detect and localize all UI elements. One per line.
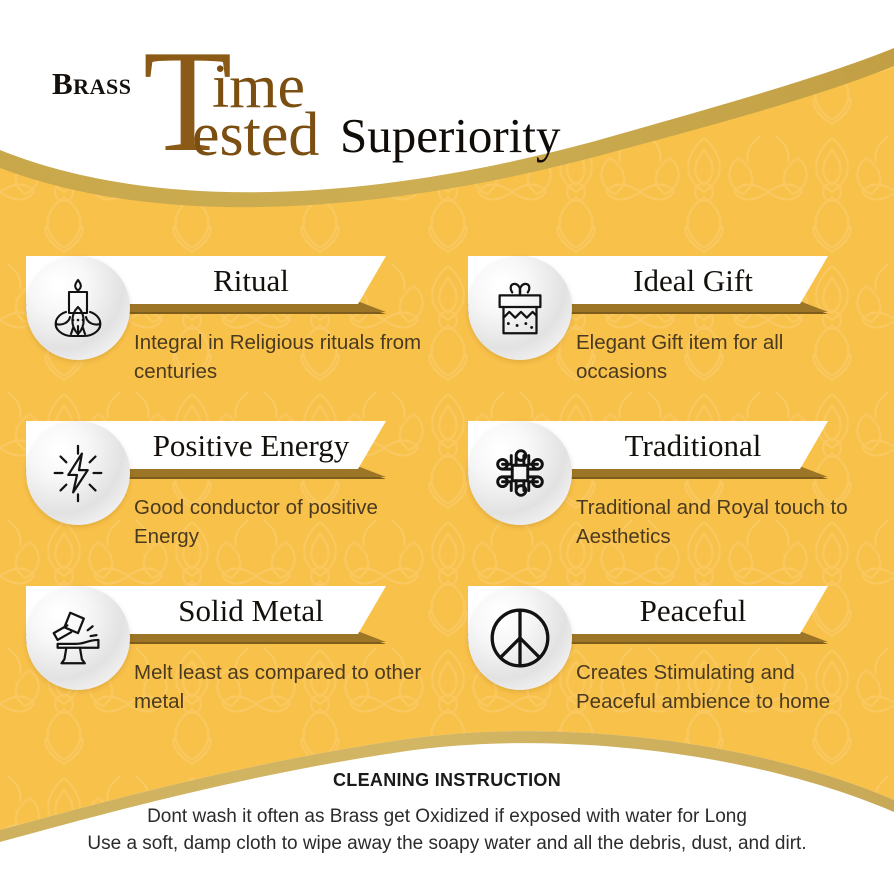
card-description: Elegant Gift item for all occasions — [576, 328, 876, 386]
card-title: Ritual — [136, 264, 366, 298]
page-title: Brass T ime ested Superiority — [52, 32, 752, 152]
feature-card-positive-energy: Positive Energy Good co — [26, 421, 444, 586]
cleaning-instruction-line-2: Use a soft, damp cloth to wipe away the … — [0, 830, 894, 857]
card-title: Ideal Gift — [578, 264, 808, 298]
card-icon-circle — [468, 256, 572, 360]
card-description: Melt least as compared to other metal — [134, 658, 434, 716]
card-description: Traditional and Royal touch to Aesthetic… — [576, 493, 876, 551]
feature-card-solid-metal: Solid Metal Melt least as compared to ot… — [26, 586, 444, 751]
lightning-bolt-icon — [45, 440, 111, 506]
feature-card-peaceful: Peaceful Creates Stimulating and Peacefu… — [468, 586, 886, 751]
card-title: Solid Metal — [136, 594, 366, 628]
card-description: Good conductor of positive Energy — [134, 493, 434, 551]
gift-box-icon — [487, 275, 553, 341]
card-icon-circle — [26, 586, 130, 690]
feature-card-traditional: Traditional — [468, 421, 886, 586]
card-icon-circle — [468, 421, 572, 525]
card-icon-circle — [26, 256, 130, 360]
title-superiority: Superiority — [340, 111, 560, 160]
cleaning-instruction-heading: CLEANING INSTRUCTION — [0, 770, 894, 791]
peace-sign-icon — [485, 603, 555, 673]
title-brass: Brass — [52, 68, 131, 99]
cleaning-instruction-section: CLEANING INSTRUCTION Dont wash it often … — [0, 770, 894, 857]
hammer-anvil-icon — [45, 605, 111, 671]
feature-card-ideal-gift: Ideal Gift — [468, 256, 886, 421]
feature-card-ritual: Ritual — [26, 256, 444, 421]
card-title: Positive Energy — [136, 429, 366, 463]
infographic-canvas: Brass T ime ested Superiority Ritual — [0, 0, 894, 894]
card-title: Traditional — [578, 429, 808, 463]
title-ested: ested — [192, 104, 319, 166]
card-title: Peaceful — [578, 594, 808, 628]
card-icon-circle — [26, 421, 130, 525]
endless-knot-icon — [487, 440, 553, 506]
card-description: Creates Stimulating and Peaceful ambienc… — [576, 658, 876, 716]
header: Brass T ime ested Superiority — [0, 0, 894, 150]
card-icon-circle — [468, 586, 572, 690]
candle-lotus-icon — [44, 274, 112, 342]
cleaning-instruction-line-1: Dont wash it often as Brass get Oxidized… — [0, 803, 894, 830]
card-description: Integral in Religious rituals from centu… — [134, 328, 434, 386]
